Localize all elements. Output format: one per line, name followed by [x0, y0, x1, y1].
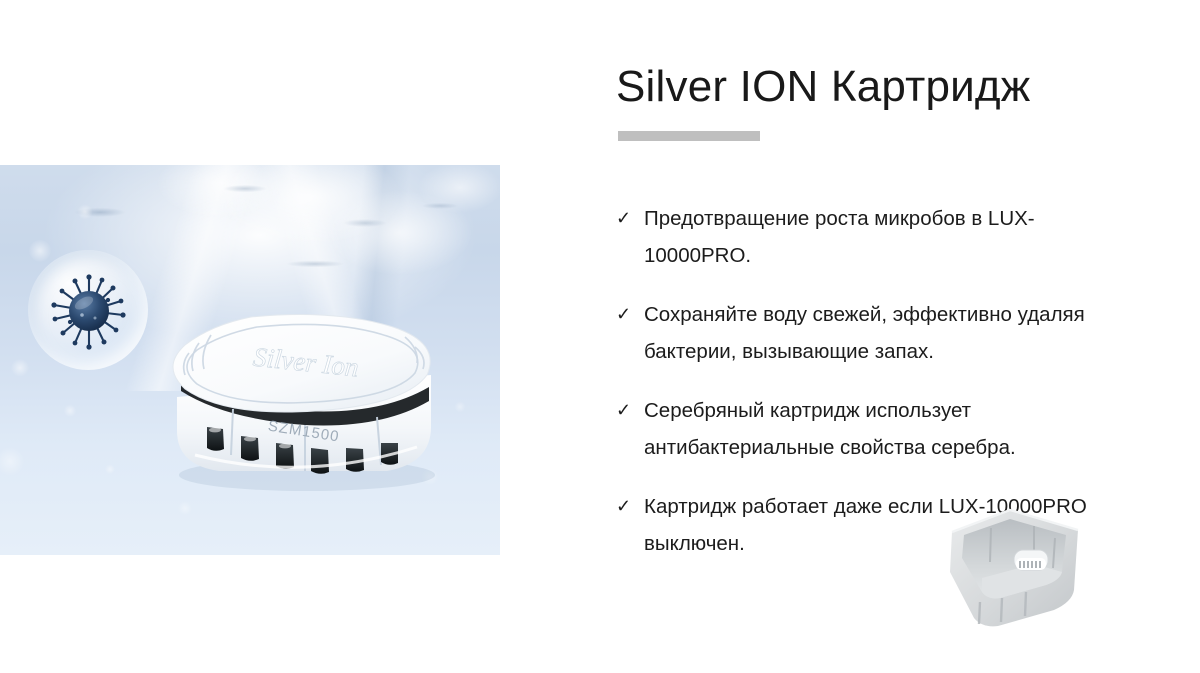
- check-icon: ✓: [616, 296, 644, 333]
- list-item: ✓ Предотвращение роста микробов в LUX-10…: [616, 200, 1106, 274]
- water-tank-photo: [938, 502, 1088, 632]
- cartridge-in-tank: [1014, 550, 1048, 570]
- title-underline-bar: [618, 131, 760, 141]
- check-icon: ✓: [616, 392, 644, 429]
- list-item: ✓ Серебряный картридж использует антибак…: [616, 392, 1106, 466]
- list-item-text: Серебряный картридж использует антибакте…: [644, 392, 1106, 466]
- check-icon: ✓: [616, 488, 644, 525]
- list-item: ✓ Сохраняйте воду свежей, эффективно уда…: [616, 296, 1106, 370]
- virus-icon: [50, 272, 128, 350]
- check-icon: ✓: [616, 200, 644, 237]
- cartridge-illustration: Silver Ion SZ: [155, 305, 455, 505]
- list-item-text: Сохраняйте воду свежей, эффективно удаля…: [644, 296, 1106, 370]
- list-item-text: Предотвращение роста микробов в LUX-1000…: [644, 200, 1106, 274]
- page-title: Silver ION Картридж: [616, 62, 1030, 112]
- product-photo: Silver Ion SZ: [0, 165, 500, 555]
